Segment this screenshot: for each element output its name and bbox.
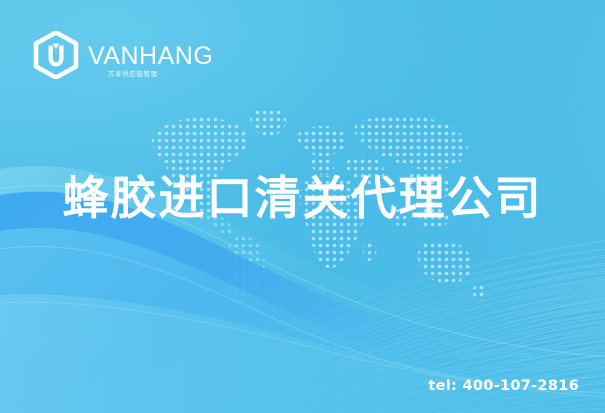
- brand-wordmark-text: VANHANG: [88, 44, 213, 69]
- contact-phone: tel: 400-107-2816: [428, 378, 579, 394]
- brand-logo: VANHANG 万享供应链管理: [33, 31, 213, 79]
- promo-banner: VANHANG 万享供应链管理 蜂胶进口清关代理公司 tel: 400-107-…: [0, 0, 605, 413]
- hexagon-u-logo-icon: [33, 31, 79, 79]
- brand-subtitle-text: 万享供应链管理: [108, 71, 158, 78]
- brand-wordmark: VANHANG 万享供应链管理: [88, 42, 213, 69]
- page-title: 蜂胶进口清关代理公司: [0, 172, 605, 225]
